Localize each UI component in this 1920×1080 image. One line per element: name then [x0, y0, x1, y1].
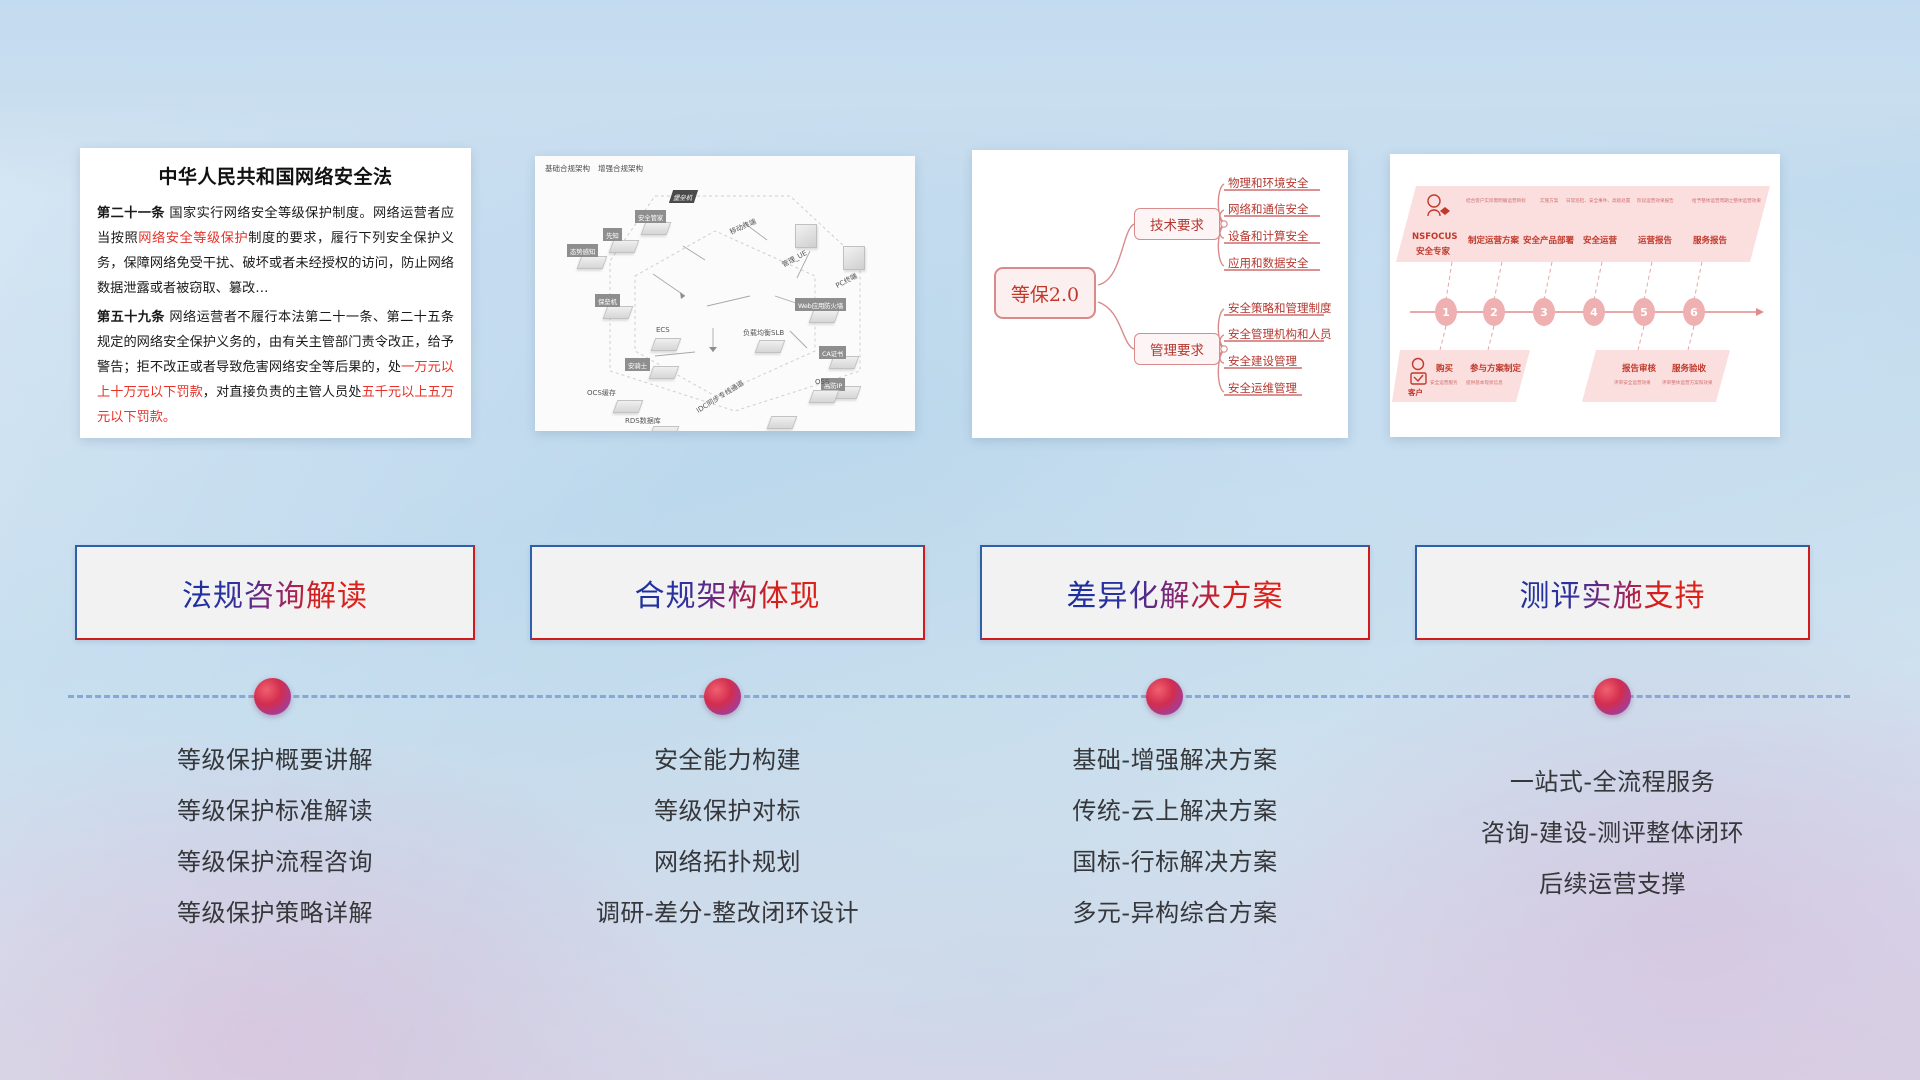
process-step-4-sub: 阶段运营效果报告	[1637, 198, 1674, 204]
card-architecture-diagram[interactable]: 基础合规架构 增强合规架构	[535, 156, 915, 431]
process-number-2: 2	[1483, 298, 1505, 326]
title-label-3: 差异化解决方案	[1067, 571, 1284, 615]
list-item: 等级保护策略详解	[75, 888, 475, 939]
arch-node-bastion	[605, 306, 631, 319]
title-label-1: 法规咨询解读	[182, 571, 368, 615]
list-item: 后续运营支撑	[1415, 859, 1810, 910]
arch-node-ocs-cache	[615, 400, 641, 413]
process-shapes	[1390, 154, 1780, 437]
arch-node-ecs-label: ECS	[656, 326, 670, 334]
list-item: 传统-云上解决方案	[980, 786, 1370, 837]
list-item: 基础-增强解决方案	[980, 735, 1370, 786]
card-row: 中华人民共和国网络安全法 第二十一条 国家实行网络安全等级保护制度。网络运营者应…	[0, 148, 1920, 438]
timeline-dot-1[interactable]	[254, 678, 291, 715]
arch-node-ocs-cache-label: OCS缓存	[587, 388, 616, 398]
timeline	[0, 660, 1920, 740]
process-number-4: 4	[1583, 298, 1605, 326]
process-number-3: 3	[1533, 298, 1555, 326]
process-step-1-title: 制定运营方案	[1468, 234, 1519, 246]
list-item: 一站式-全流程服务	[1415, 757, 1810, 808]
card-mindmap[interactable]: 等保2.0 技术要求 管理要求 物理和环境安全 网络和通信安全 设备和计算安全 …	[972, 150, 1348, 438]
process-step-2-sub: 实施方案	[1540, 198, 1558, 204]
law-article-21-highlight: 网络安全等级保护	[138, 231, 248, 246]
process-step-3-title: 安全运营	[1583, 234, 1617, 246]
list-column-1: 等级保护概要讲解 等级保护标准解读 等级保护流程咨询 等级保护策略详解	[75, 735, 475, 939]
process-step-3-sub: 日常巡检、安全事件、高级处置	[1566, 198, 1630, 204]
list-item: 网络拓扑规划	[530, 837, 925, 888]
arch-node-anqishi	[651, 366, 677, 379]
process-step-4-title: 运营报告	[1638, 234, 1672, 246]
process-number-1: 1	[1435, 298, 1457, 326]
mindmap-canvas: 等保2.0 技术要求 管理要求 物理和环境安全 网络和通信安全 设备和计算安全 …	[972, 150, 1348, 438]
arch-node-anqishi-tag: 安骑士	[625, 358, 650, 371]
process-bottom-right-2-sub: 评审整体运营方案和效果	[1662, 380, 1713, 386]
arch-node-waf-tag: Web应用防火墙	[795, 298, 846, 311]
arch-node-security-steward-tag: 安全管家	[635, 210, 666, 223]
arch-node-mobile-terminal-label: 移动终端	[728, 217, 758, 238]
title-box-4[interactable]: 测评实施支持	[1415, 545, 1810, 640]
list-column-2: 安全能力构建 等级保护对标 网络拓扑规划 调研-差分-整改闭环设计	[530, 735, 925, 939]
mindmap-root[interactable]: 等保2.0	[994, 267, 1096, 319]
title-label-4: 测评实施支持	[1520, 571, 1706, 615]
list-column-3: 基础-增强解决方案 传统-云上解决方案 国标-行标解决方案 多元-异构综合方案	[980, 735, 1370, 939]
process-brand-name: NSFOCUS	[1412, 232, 1458, 242]
law-article-59: 第五十九条 网络运营者不履行本法第二十一条、第二十五条规定的网络安全保护义务的，…	[97, 305, 454, 430]
mindmap-branch-technical[interactable]: 技术要求	[1134, 208, 1220, 240]
process-bottom-left-1-title: 购买	[1436, 362, 1453, 374]
timeline-dashed-line	[68, 695, 1850, 698]
process-bottom-left-2-title: 参与方案制定	[1470, 362, 1521, 374]
arch-node-rds	[651, 426, 677, 431]
title-box-2[interactable]: 合规架构体现	[530, 545, 925, 640]
process-step-5-sub: 给予整体运营周期之整体运营效果	[1692, 198, 1761, 204]
law-article-21-label: 第二十一条	[97, 206, 165, 221]
timeline-dot-3[interactable]	[1146, 678, 1183, 715]
arch-node-slb	[757, 340, 783, 353]
arch-node-bastion-tag: 保垒机	[595, 294, 620, 307]
arch-node-pc-terminal	[843, 246, 865, 270]
list-item: 等级保护流程咨询	[75, 837, 475, 888]
timeline-dot-2[interactable]	[704, 678, 741, 715]
arch-node-pc-terminal-label: PC终端	[834, 271, 859, 291]
process-step-1-sub: 结合客户实际需明确运营目标	[1466, 198, 1526, 204]
mindmap-leaf-tech-2: 网络和通信安全	[1228, 201, 1309, 219]
arch-node-xianzhi-tag: 先知	[603, 228, 622, 241]
card-process-timeline[interactable]: NSFOCUS 安全专家 结合客户实际需明确运营目标 制定运营方案 实施方案 安…	[1390, 154, 1780, 437]
arch-node-ca-cert-tag: CA证书	[819, 346, 846, 359]
law-article-59-label: 第五十九条	[97, 310, 165, 325]
process-bottom-right-2-title: 服务验收	[1672, 362, 1706, 374]
list-item: 等级保护标准解读	[75, 786, 475, 837]
process-bottom-left-2-sub: 提供基本现状信息	[1466, 380, 1503, 386]
arch-node-slb-label: 负载均衡SLB	[743, 328, 784, 338]
process-brand-subtitle: 安全专家	[1416, 245, 1450, 257]
list-item: 多元-异构综合方案	[980, 888, 1370, 939]
arch-node-situational-awareness	[579, 256, 605, 269]
arch-node-xianzhi	[611, 240, 637, 253]
list-row: 等级保护概要讲解 等级保护标准解读 等级保护流程咨询 等级保护策略详解 安全能力…	[0, 735, 1920, 975]
list-item: 安全能力构建	[530, 735, 925, 786]
list-item: 等级保护概要讲解	[75, 735, 475, 786]
list-item: 等级保护对标	[530, 786, 925, 837]
mindmap-leaf-mgmt-3: 安全建设管理	[1228, 353, 1297, 371]
process-step-5-title: 服务报告	[1693, 234, 1727, 246]
list-item: 咨询-建设-测评整体闭环	[1415, 808, 1810, 859]
arch-node-ecs	[653, 338, 679, 351]
arch-node-vpc	[769, 416, 795, 429]
mindmap-leaf-mgmt-4: 安全运维管理	[1228, 380, 1297, 398]
process-canvas: NSFOCUS 安全专家 结合客户实际需明确运营目标 制定运营方案 实施方案 安…	[1390, 154, 1780, 437]
process-bottom-left-1-sub: 安全运营服务	[1430, 380, 1458, 386]
title-label-2: 合规架构体现	[635, 571, 821, 615]
arch-node-security-steward	[643, 222, 669, 235]
process-bottom-right-1-sub: 评审安全运营效果	[1614, 380, 1651, 386]
mindmap-leaf-mgmt-2: 安全管理机构和人员	[1228, 326, 1332, 344]
list-item: 调研-差分-整改闭环设计	[530, 888, 925, 939]
law-title: 中华人民共和国网络安全法	[97, 162, 454, 189]
title-box-3[interactable]: 差异化解决方案	[980, 545, 1370, 640]
law-article-21: 第二十一条 国家实行网络安全等级保护制度。网络运营者应当按照网络安全等级保护制度…	[97, 201, 454, 301]
arch-node-oss	[811, 390, 837, 403]
law-article-59-text-b: ，对直接负责的主管人员处	[203, 385, 362, 400]
architecture-nodes: 堡垒机 安全管家 先知 态势感知 保垒机 ECS 安骑士 OCS缓存 RDS数据…	[543, 178, 907, 425]
arch-node-admin-ue-label: 管理_UE	[780, 248, 809, 270]
timeline-dot-4[interactable]	[1594, 678, 1631, 715]
arch-node-oss-label: OSS	[815, 378, 829, 386]
mindmap-leaf-tech-3: 设备和计算安全	[1228, 228, 1309, 246]
process-number-5: 5	[1633, 298, 1655, 326]
arch-node-bastion-dark: 堡垒机	[669, 190, 698, 203]
mindmap-branch-management[interactable]: 管理要求	[1134, 333, 1220, 365]
law-body: 中华人民共和国网络安全法 第二十一条 国家实行网络安全等级保护制度。网络运营者应…	[80, 148, 471, 430]
process-number-6: 6	[1683, 298, 1705, 326]
arch-node-idc-line-label: IDC同步专线通道	[694, 378, 745, 415]
list-item: 国标-行标解决方案	[980, 837, 1370, 888]
process-step-2-title: 安全产品部署	[1523, 234, 1574, 246]
arch-node-situational-awareness-tag: 态势感知	[567, 244, 598, 257]
list-column-4: 一站式-全流程服务 咨询-建设-测评整体闭环 后续运营支撑	[1415, 757, 1810, 910]
architecture-canvas: 基础合规架构 增强合规架构	[535, 156, 915, 431]
arch-node-admin-ue	[795, 224, 817, 248]
card-law-document[interactable]: 中华人民共和国网络安全法 第二十一条 国家实行网络安全等级保护制度。网络运营者应…	[80, 148, 471, 438]
process-bottom-right-1-title: 报告审核	[1622, 362, 1656, 374]
process-customer-label: 客户	[1408, 387, 1423, 398]
title-row: 法规咨询解读 合规架构体现 差异化解决方案 测评实施支持	[0, 545, 1920, 640]
mindmap-leaf-tech-1: 物理和环境安全	[1228, 175, 1309, 193]
mindmap-leaf-tech-4: 应用和数据安全	[1228, 255, 1309, 273]
mindmap-leaf-mgmt-1: 安全策略和管理制度	[1228, 300, 1332, 318]
arch-node-rds-label: RDS数据库	[625, 416, 661, 426]
arch-node-waf	[811, 310, 837, 323]
title-box-1[interactable]: 法规咨询解读	[75, 545, 475, 640]
